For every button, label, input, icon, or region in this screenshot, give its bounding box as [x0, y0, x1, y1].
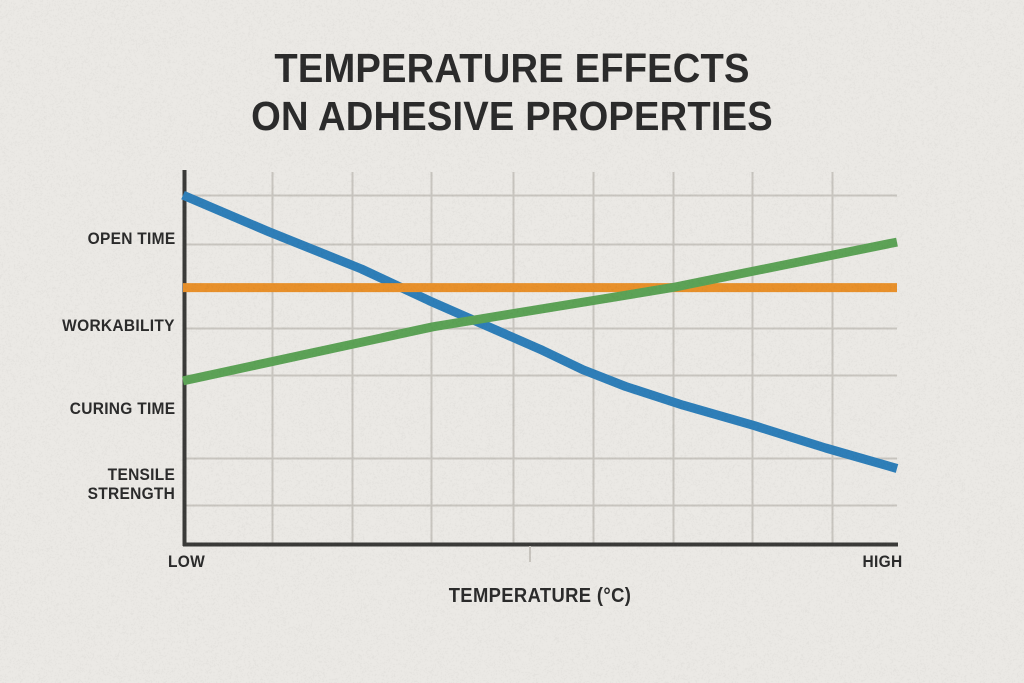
series-line: [183, 195, 897, 468]
data-series: [183, 195, 897, 468]
plot-area: [0, 0, 1024, 683]
y-tick-label-tensile-strength: TENSILE STRENGTH: [87, 466, 175, 504]
x-tick-label-high: HIGH: [862, 553, 902, 572]
y-tick-label-workability: WORKABILITY: [62, 317, 175, 336]
x-tick-label-low: LOW: [168, 553, 205, 572]
chart-figure: TEMPERATURE EFFECTS ON ADHESIVE PROPERTI…: [0, 0, 1024, 683]
y-tick-label-curing-time: CURING TIME: [69, 400, 175, 419]
y-tick-label-open-time: OPEN TIME: [87, 230, 175, 249]
series-line: [183, 242, 897, 381]
x-axis-title: TEMPERATURE (°C): [212, 585, 869, 608]
axis-spines: [183, 170, 898, 562]
